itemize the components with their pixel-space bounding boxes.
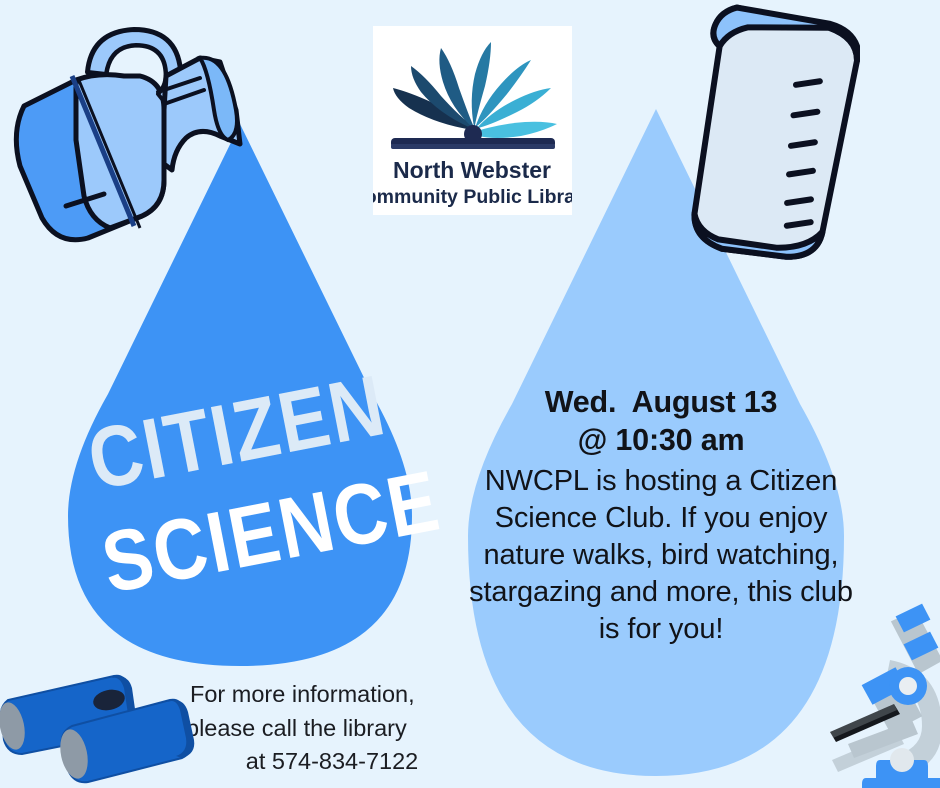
watering-can-pitcher-illustration: [16, 30, 240, 240]
library-logo-card: North Webster Community Public Library: [373, 26, 572, 215]
logo-book-pages: [393, 42, 557, 138]
poster-canvas: CITIZEN SCIENCE Wed. August 13 @ 10:30 a…: [0, 0, 940, 788]
library-logo-graphic: North Webster Community Public Library: [373, 26, 572, 215]
logo-name-line-1: North Webster: [393, 157, 551, 183]
microscope-illustration: [830, 603, 940, 788]
binoculars-illustration: [0, 676, 194, 783]
beaker-illustration: [656, 0, 878, 274]
logo-name-line-2: Community Public Library: [373, 186, 572, 208]
